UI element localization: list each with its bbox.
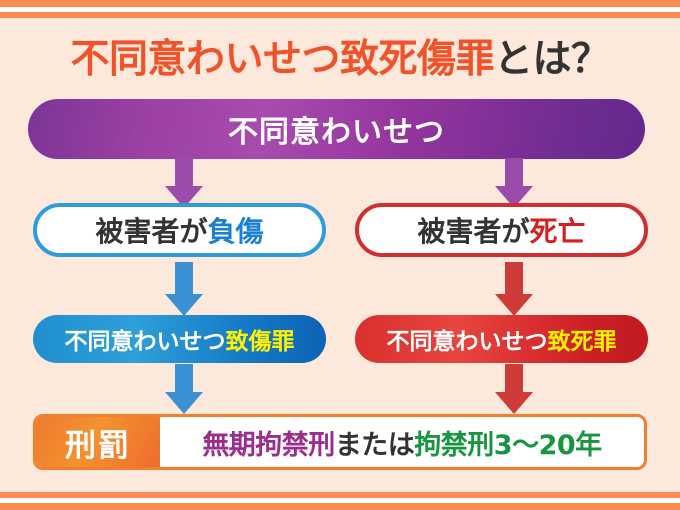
condition-node-death: 被害者が死亡 <box>355 203 648 257</box>
arrow-stem <box>505 262 523 294</box>
condition-node-injury: 被害者が負傷 <box>33 203 326 257</box>
bottom-stripe-outer <box>0 503 680 510</box>
crime-node-injury: 不同意わいせつ致傷罪 <box>33 315 326 363</box>
crime-node-death: 不同意わいせつ致死罪 <box>355 315 648 363</box>
arrow-death-crime-to-penalty <box>495 364 533 414</box>
arrow-head <box>165 392 203 414</box>
penalty-fixed-term: 拘禁刑3〜20年 <box>414 423 601 462</box>
arrow-head <box>165 294 203 316</box>
arrow-stem <box>505 158 523 186</box>
arrow-stem <box>175 158 193 186</box>
arrow-banner-to-injury <box>165 158 203 208</box>
condition-death-highlight: 死亡 <box>530 210 586 250</box>
page-title-plain: とは？ <box>494 37 610 82</box>
condition-injury-prefix: 被害者が <box>95 210 207 250</box>
arrow-death-to-crime <box>495 262 533 316</box>
top-stripe-inner <box>0 12 680 18</box>
root-node-label: 不同意わいせつ <box>228 107 445 151</box>
top-stripe-outer <box>0 0 680 7</box>
penalty-bar: 刑罰 無期拘禁刑または拘禁刑3〜20年 <box>33 414 647 470</box>
penalty-label: 刑罰 <box>36 417 160 467</box>
penalty-value: 無期拘禁刑または拘禁刑3〜20年 <box>160 417 644 467</box>
penalty-conjunction: または <box>335 423 415 462</box>
condition-death-prefix: 被害者が <box>417 210 529 250</box>
crime-injury-prefix: 不同意わいせつ <box>65 322 226 356</box>
root-node-banner: 不同意わいせつ <box>28 99 645 159</box>
arrow-stem <box>175 364 193 392</box>
crime-death-highlight: 致死罪 <box>548 322 617 356</box>
arrow-stem <box>505 364 523 392</box>
page-title-accent: 不同意わいせつ致死傷罪 <box>70 37 494 82</box>
arrow-stem <box>175 262 193 294</box>
crime-death-prefix: 不同意わいせつ <box>387 322 548 356</box>
arrow-head <box>495 392 533 414</box>
page-title: 不同意わいせつ致死傷罪とは？ <box>0 28 680 84</box>
arrow-head <box>495 294 533 316</box>
condition-injury-highlight: 負傷 <box>208 210 264 250</box>
crime-injury-highlight: 致傷罪 <box>226 322 295 356</box>
arrow-injury-to-crime <box>165 262 203 316</box>
penalty-life-sentence: 無期拘禁刑 <box>202 423 335 462</box>
arrow-banner-to-death <box>495 158 533 208</box>
arrow-injury-crime-to-penalty <box>165 364 203 414</box>
